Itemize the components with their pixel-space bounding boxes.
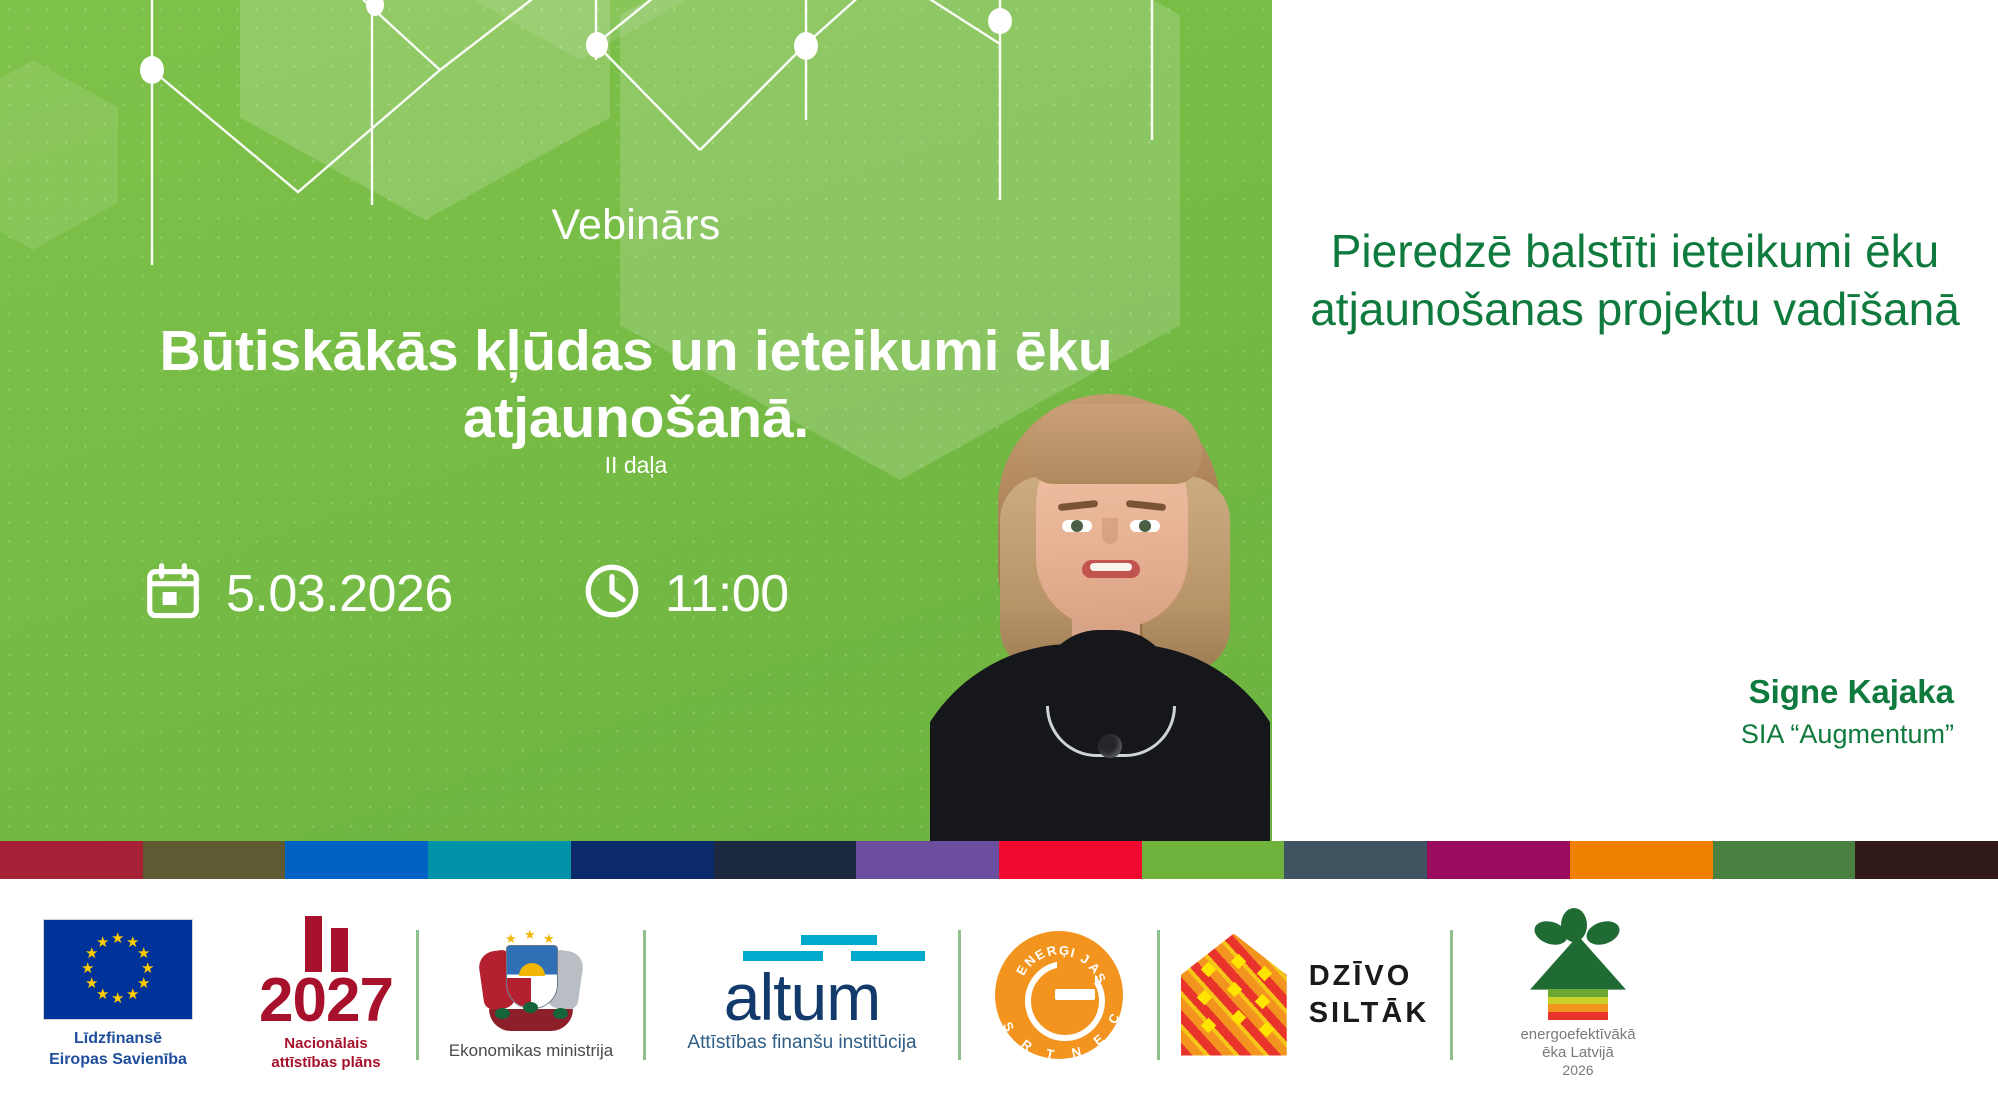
logo-eu-flag: ★★★★★★★★★★★★ Līdzfinansē Eiropas Savienī… — [0, 919, 236, 1070]
ec-char: E — [1090, 1030, 1107, 1048]
house-dot — [1226, 981, 1242, 997]
dzivo-siltak-house-icon — [1181, 934, 1287, 1056]
teeth — [1090, 563, 1132, 571]
logo-energoefektivaka: energoefektīvākā ēka Latvijā 2026 — [1453, 910, 1703, 1080]
energy-bands — [1548, 982, 1608, 1020]
eu-star: ★ — [111, 991, 124, 1006]
ee-year: 2026 — [1520, 1062, 1635, 1079]
eu-star: ★ — [111, 931, 124, 946]
logo-bar: ★★★★★★★★★★★★ Līdzfinansē Eiropas Savienī… — [0, 879, 1998, 1110]
eu-star: ★ — [141, 961, 154, 976]
color-swatch — [428, 841, 571, 879]
house-dot — [1258, 1021, 1274, 1037]
logo-energijas-centrs: ENERĢIJASCENTRS — [961, 931, 1157, 1059]
color-swatch — [714, 841, 857, 879]
time-value: 11:00 — [665, 568, 789, 620]
color-swatch — [143, 841, 286, 879]
wreath-leaf — [523, 1002, 538, 1013]
ec-char: T — [1045, 1045, 1057, 1062]
star-right: ★ — [543, 931, 555, 947]
plan-caption-line1: Nacionālais — [271, 1034, 380, 1054]
color-swatch — [1142, 841, 1285, 879]
logo-dzivo-siltak: DZĪVO SILTĀK — [1160, 934, 1450, 1056]
ec-char: S — [1000, 1019, 1018, 1035]
eye-left — [1062, 520, 1092, 532]
color-swatch — [571, 841, 714, 879]
dzivo-line2: SILTĀK — [1309, 995, 1430, 1031]
color-swatch — [1284, 841, 1427, 879]
calendar-icon — [142, 560, 204, 627]
plan-bars-icon — [305, 916, 348, 972]
eu-caption-line2: Eiropas Savienība — [49, 1050, 187, 1070]
color-strip — [0, 841, 1998, 879]
energy-house-caption: energoefektīvākā ēka Latvijā 2026 — [1520, 1026, 1635, 1080]
eu-star: ★ — [126, 987, 139, 1002]
ee-caption-line1: energoefektīvākā — [1520, 1026, 1635, 1044]
energijas-centrs-icon: ENERĢIJASCENTRS — [995, 931, 1123, 1059]
color-swatch — [1713, 841, 1856, 879]
eyebrow-right — [1126, 500, 1167, 511]
banner-kicker: Vebinārs — [0, 201, 1272, 250]
dzivo-siltak-text: DZĪVO SILTĀK — [1309, 958, 1430, 1031]
house-dot — [1200, 961, 1216, 977]
date-value: 5.03.2026 — [226, 568, 453, 620]
eu-star: ★ — [137, 946, 150, 961]
house-dot — [1256, 965, 1272, 981]
coat-of-arms-icon: ★ ★ ★ — [475, 929, 587, 1033]
logo-national-plan: 2027 Nacionālais attīstības plāns — [236, 916, 416, 1072]
plan-caption-line2: attīstības plāns — [271, 1053, 380, 1073]
house-dot — [1196, 989, 1212, 1005]
plan-year: 2027 — [259, 974, 393, 1027]
energy-house-icon — [1518, 910, 1638, 1022]
wreath-leaf — [495, 1008, 510, 1019]
color-swatch — [285, 841, 428, 879]
ministry-caption: Ekonomikas ministrija — [449, 1041, 613, 1061]
color-swatch — [1570, 841, 1713, 879]
altum-wordmark: altum — [724, 967, 880, 1028]
altum-dashes-icon — [671, 935, 933, 965]
time-item: 11:00 — [581, 560, 789, 627]
eu-flag-caption: Līdzfinansē Eiropas Savienība — [49, 1029, 187, 1070]
eu-star: ★ — [81, 961, 94, 976]
house-dot — [1230, 953, 1246, 969]
network-node — [988, 8, 1012, 34]
logo-altum: altum Attīstības finanšu institūcija — [646, 935, 958, 1054]
network-node — [586, 32, 608, 58]
leaf-right — [1583, 917, 1622, 948]
eu-flag-icon: ★★★★★★★★★★★★ — [43, 919, 193, 1020]
ec-char: C — [1105, 1010, 1123, 1026]
network-node — [794, 32, 818, 60]
eu-star: ★ — [85, 976, 98, 991]
right-panel-heading: Pieredzē balstīti ieteikumi ēku atjaunoš… — [1300, 222, 1970, 339]
eye-right — [1130, 520, 1160, 532]
eu-caption-line1: Līdzfinansē — [49, 1029, 187, 1049]
plan-caption: Nacionālais attīstības plāns — [271, 1034, 380, 1073]
eyebrow-left — [1058, 500, 1099, 511]
banner: Vebinārs Būtiskākās kļūdas un ieteikumi … — [0, 0, 1998, 841]
banner-meta-row: 5.03.2026 11:00 — [142, 560, 789, 627]
star-center: ★ — [524, 927, 536, 943]
nose — [1102, 518, 1118, 544]
altum-caption: Attīstības finanšu institūcija — [687, 1032, 916, 1054]
iris-right — [1139, 520, 1151, 532]
color-swatch — [856, 841, 999, 879]
house-dot — [1230, 1009, 1246, 1025]
sun-emblem — [519, 963, 545, 976]
star-left: ★ — [505, 931, 517, 947]
clock-icon — [581, 560, 643, 627]
speaker-organization: SIA “Augmentum” — [1741, 716, 1954, 752]
house-dot — [1254, 993, 1270, 1009]
wreath-leaf — [553, 1008, 568, 1019]
iris-left — [1071, 520, 1083, 532]
shield-right-half — [533, 978, 557, 1006]
ec-char: Ģ — [1059, 943, 1070, 958]
house-dot — [1200, 1017, 1216, 1033]
right-panel: Pieredzē balstīti ieteikumi ēku atjaunoš… — [1272, 0, 1998, 841]
date-item: 5.03.2026 — [142, 560, 453, 627]
color-swatch — [999, 841, 1142, 879]
presenter-photo — [930, 380, 1270, 841]
speaker-block: Signe Kajaka SIA “Augmentum” — [1741, 672, 1954, 752]
webinar-promo-slide: Vebinārs Būtiskākās kļūdas un ieteikumi … — [0, 0, 1998, 1110]
color-swatch — [0, 841, 143, 879]
ec-char: R — [1018, 1036, 1035, 1054]
shield — [506, 945, 558, 1009]
color-swatch — [1855, 841, 1998, 879]
ec-char: I — [1069, 944, 1077, 960]
eu-star: ★ — [96, 935, 109, 950]
dzivo-line1: DZĪVO — [1309, 958, 1430, 994]
network-node — [140, 56, 164, 84]
ec-char: N — [1070, 1043, 1083, 1060]
hair-fringe — [1026, 404, 1202, 484]
speaker-name: Signe Kajaka — [1741, 672, 1954, 712]
ec-circular-text: ENERĢIJASCENTRS — [995, 931, 1123, 1059]
logo-ministry: ★ ★ ★ Ekonomikas ministrija — [419, 929, 643, 1061]
color-swatch — [1427, 841, 1570, 879]
ee-caption-line2: ēka Latvijā — [1520, 1044, 1635, 1062]
necklace-bead — [1098, 734, 1122, 758]
